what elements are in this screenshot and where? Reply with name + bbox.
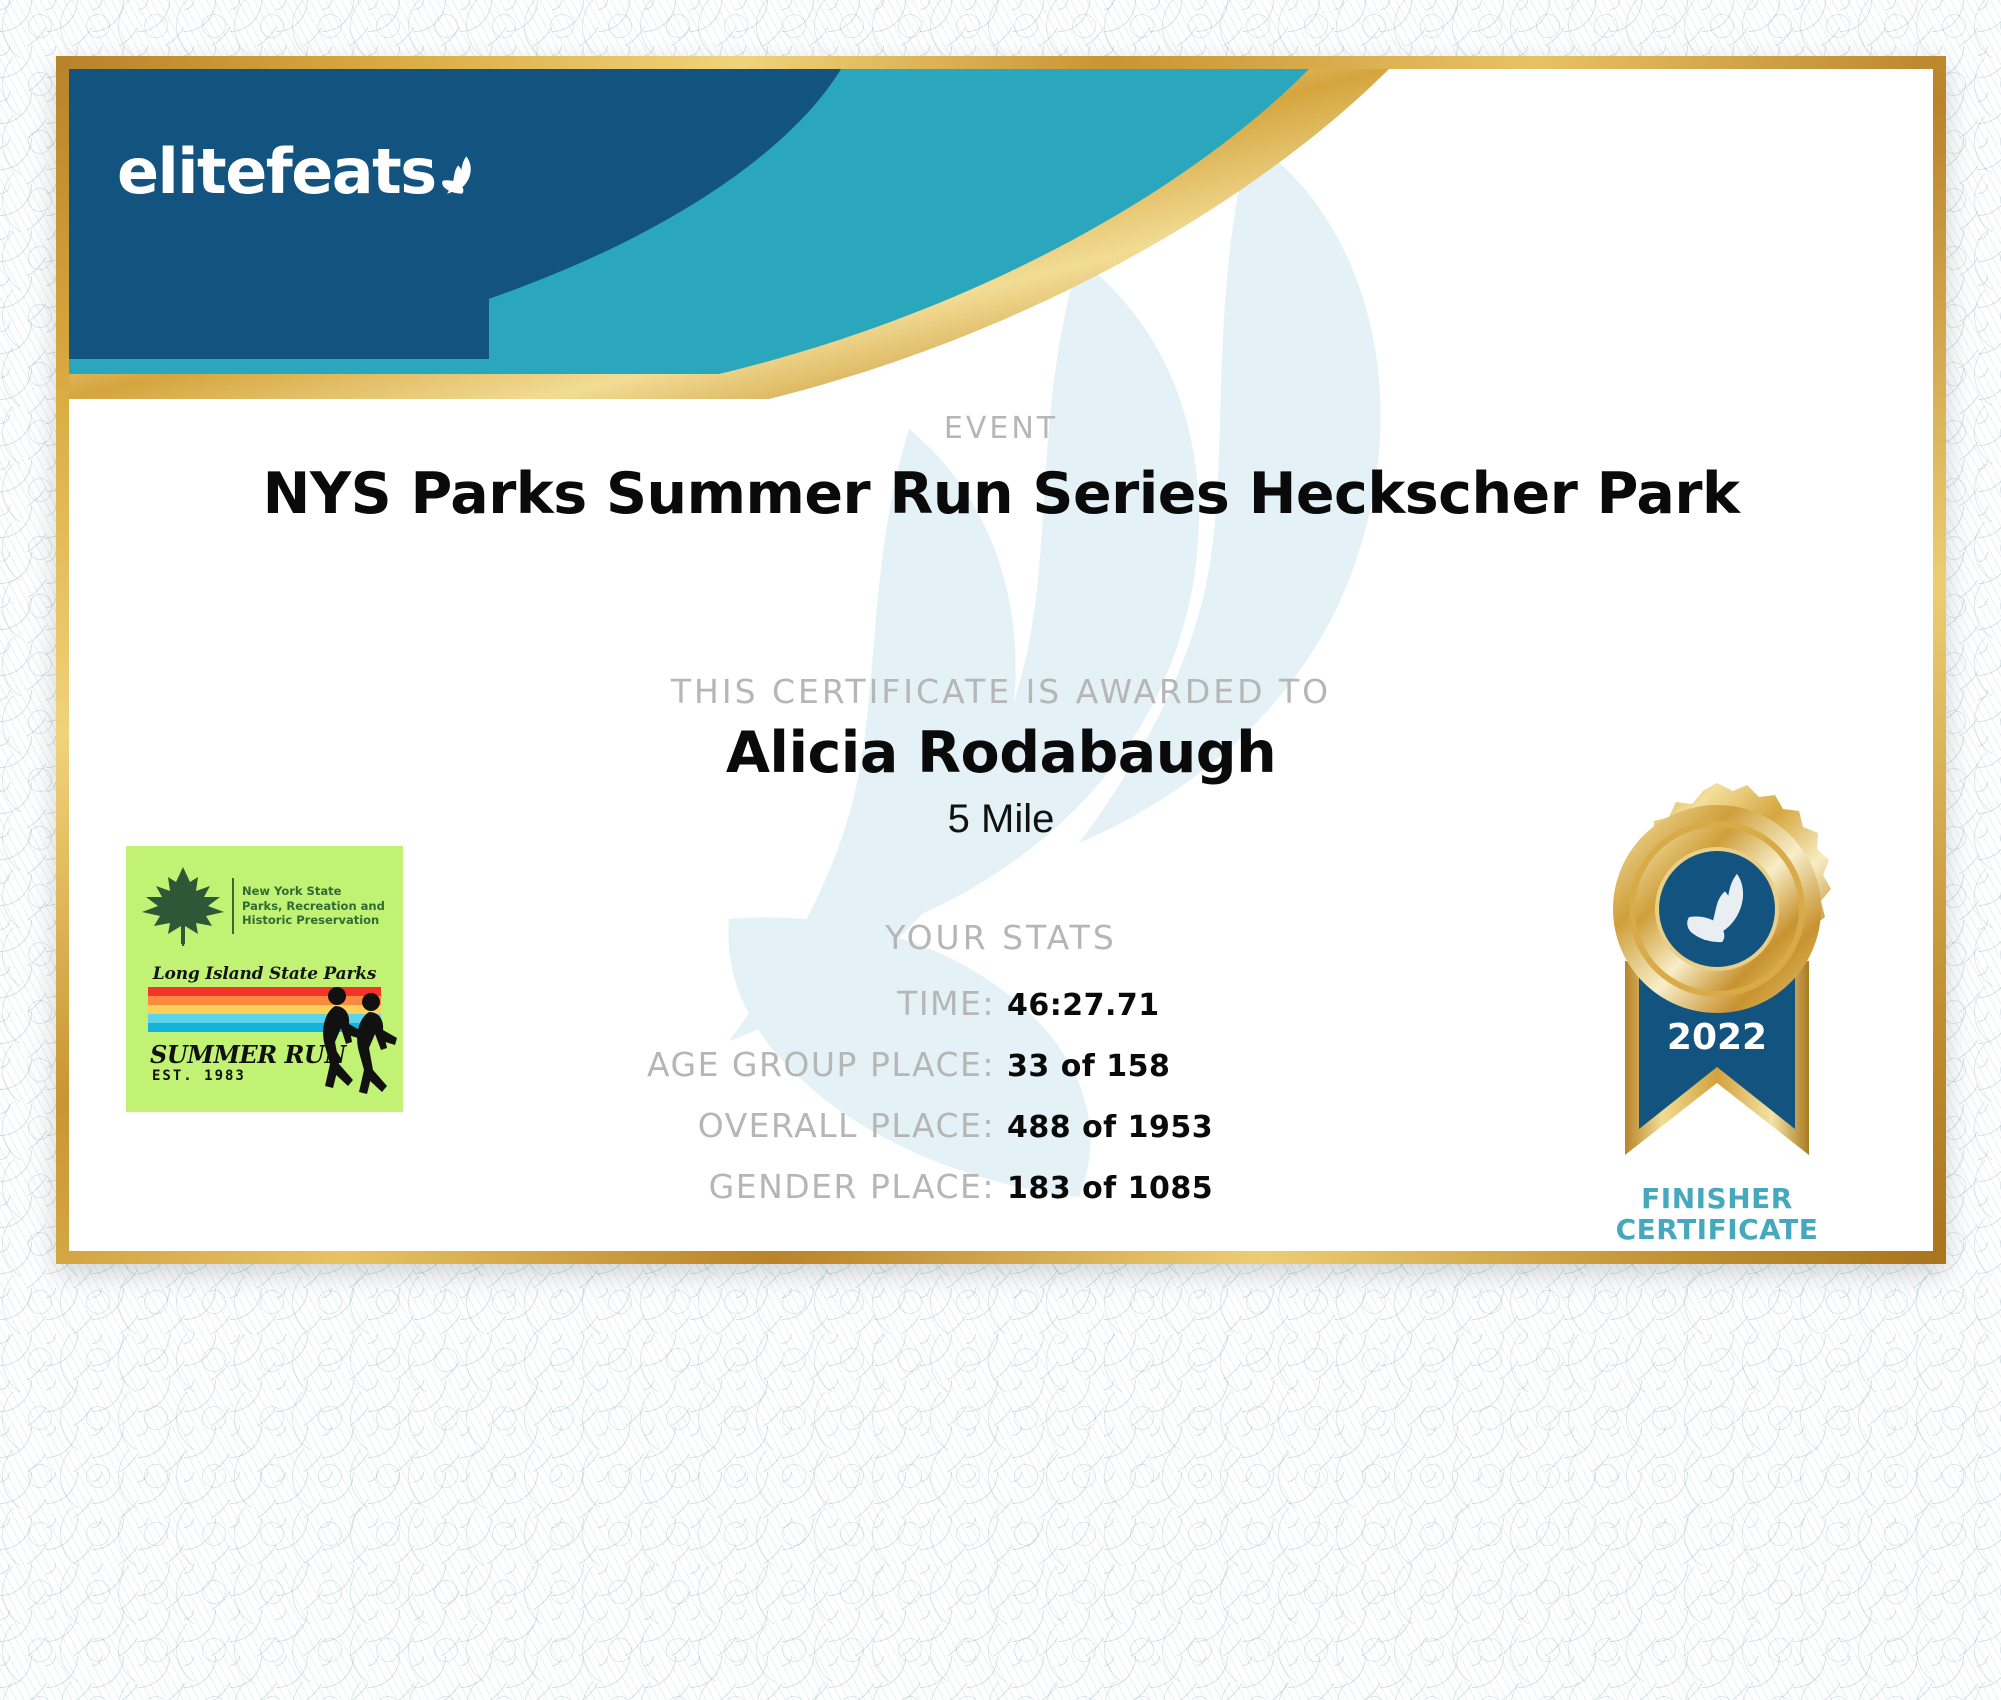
winged-foot-icon: [440, 135, 477, 213]
event-label: EVENT: [69, 411, 1933, 446]
sponsor-agency-line-2: Parks, Recreation and: [242, 899, 385, 914]
stat-label-time: TIME:: [545, 984, 995, 1023]
stat-label-gender-place: GENDER PLACE:: [545, 1167, 995, 1206]
medal-year: 2022: [1667, 1017, 1767, 1058]
certificate-page: elitefeats EVENT NYS Parks Summer Run Se…: [0, 0, 2001, 1700]
awarded-to-label: THIS CERTIFICATE IS AWARDED TO: [69, 672, 1933, 711]
recipient-name: Alicia Rodabaugh: [69, 720, 1933, 786]
stat-value-age-group-place: 33 of 158: [995, 1049, 1457, 1084]
sponsor-divider: [232, 878, 234, 934]
certificate-inner-area: elitefeats EVENT NYS Parks Summer Run Se…: [69, 69, 1933, 1251]
event-name: NYS Parks Summer Run Series Heckscher Pa…: [69, 461, 1933, 527]
header-banner-art: [69, 69, 1933, 399]
sponsor-agency-line-1: New York State: [242, 884, 385, 899]
brand-wordmark: elitefeats: [117, 141, 436, 203]
sponsor-agency-block: New York State Parks, Recreation and His…: [126, 846, 403, 954]
medal-ribbon-art: 2022: [1567, 781, 1867, 1179]
stat-label-overall-place: OVERALL PLACE:: [545, 1106, 995, 1145]
stat-value-overall-place: 488 of 1953: [995, 1110, 1457, 1145]
medal-caption-line-2: CERTIFICATE: [1567, 1214, 1867, 1245]
sponsor-series-title: Long Island State Parks: [126, 964, 403, 984]
stat-value-gender-place: 183 of 1085: [995, 1171, 1457, 1206]
sponsor-agency-name: New York State Parks, Recreation and His…: [242, 884, 385, 928]
elitefeats-logo: elitefeats: [117, 127, 477, 217]
stat-label-age-group-place: AGE GROUP PLACE:: [545, 1045, 995, 1084]
finisher-medal-badge: 2022 FINISHER CERTIFICATE: [1567, 781, 1867, 1251]
medal-caption-line-1: FINISHER: [1567, 1183, 1867, 1214]
maple-leaf-icon: [140, 864, 226, 948]
stat-value-time: 46:27.71: [995, 988, 1457, 1023]
medal-caption: FINISHER CERTIFICATE: [1567, 1183, 1867, 1246]
sponsor-logo-nys-parks: New York State Parks, Recreation and His…: [126, 846, 403, 1112]
runners-icon: [305, 984, 397, 1104]
sponsor-agency-line-3: Historic Preservation: [242, 913, 385, 928]
